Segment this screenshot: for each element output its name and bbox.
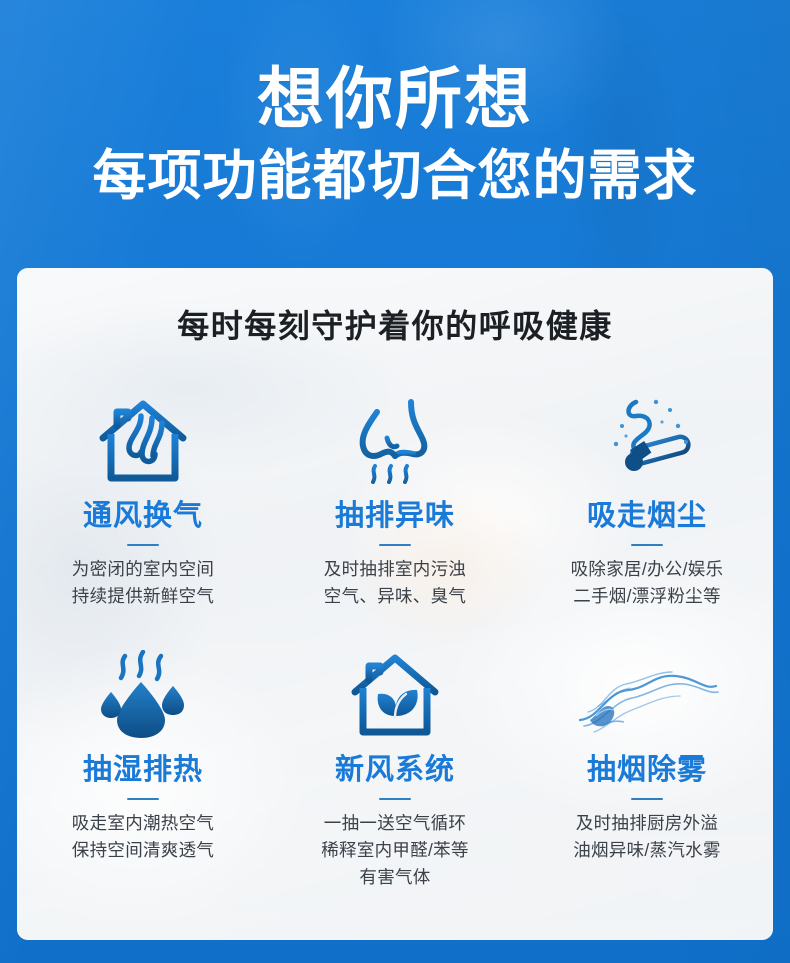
nose-odor-icon [343, 384, 447, 488]
feature-item-odor-exhaust[interactable]: 抽排异味 及时抽排室内污浊 空气、异味、臭气 [269, 376, 521, 638]
feature-title: 通风换气 [83, 502, 203, 531]
feature-description: 为密闭的室内空间 持续提供新鲜空气 [72, 556, 214, 610]
house-leaves-fresh-air-icon [346, 646, 444, 742]
feature-item-smoke-mist-removal[interactable]: 抽烟除雾 及时抽排厨房外溢 油烟异味/蒸汽水雾 [521, 638, 773, 891]
smoke-mist-wave-icon [572, 646, 722, 742]
feature-description: 吸走室内潮热空气 保持空间清爽透气 [72, 810, 214, 864]
feature-item-smoke-dust[interactable]: 吸走烟尘 吸除家居/办公/娱乐 二手烟/漂浮粉尘等 [521, 376, 773, 638]
promo-page: 想你所想 每项功能都切合您的需求 每时每刻守护着你的呼吸健康 [0, 0, 790, 963]
feature-title: 抽烟除雾 [587, 756, 707, 785]
feature-title: 抽湿排热 [83, 756, 203, 785]
feature-description: 一抽一送空气循环 稀释室内甲醛/苯等 有害气体 [321, 810, 469, 891]
water-droplet-steam-icon [93, 646, 193, 742]
feature-divider [127, 798, 159, 800]
feature-description: 吸除家居/办公/娱乐 二手烟/漂浮粉尘等 [571, 556, 724, 610]
feature-item-fresh-air-system[interactable]: 新风系统 一抽一送空气循环 稀释室内甲醛/苯等 有害气体 [269, 638, 521, 891]
house-airflow-icon [95, 384, 191, 488]
feature-title: 抽排异味 [335, 502, 455, 531]
feature-divider [631, 798, 663, 800]
hero-banner: 想你所想 每项功能都切合您的需求 [0, 0, 790, 268]
cigarette-smoke-dust-icon [592, 384, 702, 488]
feature-title: 新风系统 [335, 756, 455, 785]
feature-item-ventilation[interactable]: 通风换气 为密闭的室内空间 持续提供新鲜空气 [17, 376, 269, 638]
feature-divider [127, 544, 159, 546]
feature-divider [631, 544, 663, 546]
feature-item-dehumidify[interactable]: 抽湿排热 吸走室内潮热空气 保持空间清爽透气 [17, 638, 269, 891]
feature-description: 及时抽排厨房外溢 油烟异味/蒸汽水雾 [573, 810, 721, 864]
feature-title: 吸走烟尘 [587, 502, 707, 531]
hero-subtitle: 每项功能都切合您的需求 [93, 149, 698, 203]
feature-divider [379, 798, 411, 800]
features-card: 每时每刻守护着你的呼吸健康 [17, 268, 773, 940]
feature-divider [379, 544, 411, 546]
feature-description: 及时抽排室内污浊 空气、异味、臭气 [324, 556, 466, 610]
card-heading: 每时每刻守护着你的呼吸健康 [17, 301, 773, 347]
hero-title: 想你所想 [257, 66, 533, 133]
features-grid: 通风换气 为密闭的室内空间 持续提供新鲜空气 [17, 376, 773, 891]
